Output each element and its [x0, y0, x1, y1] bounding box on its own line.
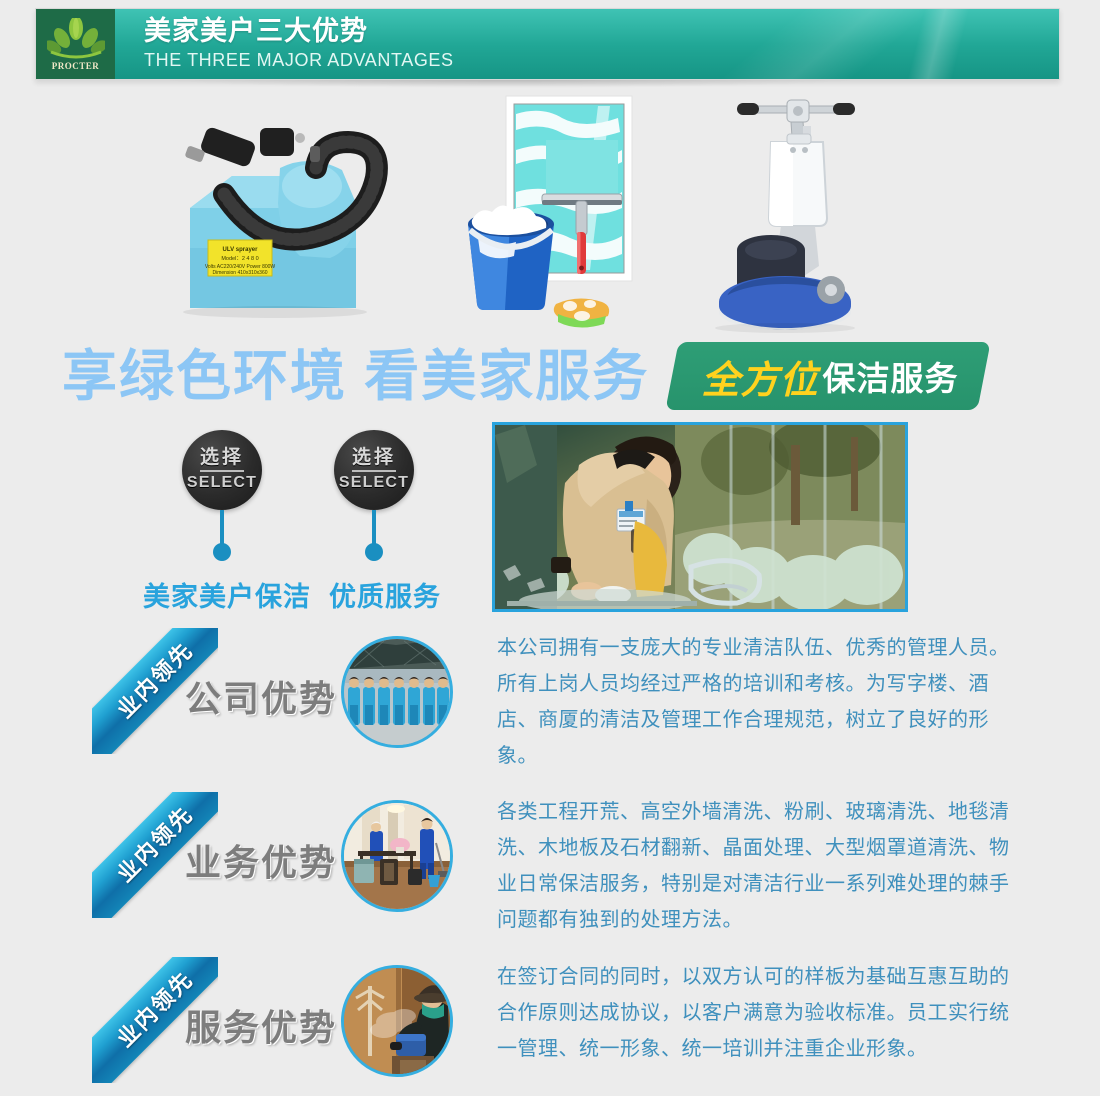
header-drop-shadow [160, 80, 860, 88]
advantage-text-2: 各类工程开荒、高空外墙清洗、粉刷、玻璃清洗、地毯清洗、木地板及石材翻新、晶面处理… [497, 794, 1013, 938]
product-image-ulv-sprayer: ULV sprayer Model：2 4 8 0 Volts AC220/24… [160, 98, 490, 338]
page-header: PROCTER 美家美户三大优势 THE THREE MAJOR ADVANTA… [35, 8, 1060, 80]
select-pin-2[interactable]: 选择 SELECT [334, 430, 414, 562]
workers-cleaning-dining-room-image [344, 803, 450, 909]
pin-dot-2 [365, 543, 383, 561]
floor-polisher-illustration [715, 90, 900, 335]
header-title-en: THE THREE MAJOR ADVANTAGES [144, 48, 454, 72]
advantage-title-2: 业务优势 [185, 834, 345, 886]
advantage-photo-2 [341, 800, 453, 912]
select-badge-cn-1: 选择 [200, 448, 244, 472]
worker-photo [492, 422, 908, 612]
svg-text:Model：2 4 8 0: Model：2 4 8 0 [221, 256, 258, 262]
service-banner-rest: 保洁服务 [823, 352, 959, 400]
main-slogan: 享绿色环境 看美家服务 [62, 345, 649, 407]
advantage-title-3: 服务优势 [185, 999, 345, 1051]
product-image-window-cleaning [450, 88, 690, 333]
company-logo: PROCTER [36, 9, 115, 79]
cleaner-wiping-glass-table-image [495, 425, 905, 609]
pin-labels: 美家美户保洁优质服务 [143, 575, 441, 614]
pin-label-2: 优质服务 [329, 582, 441, 612]
window-squeegee-illustration [450, 88, 690, 333]
select-badge-en-2: SELECT [339, 474, 409, 492]
staff-lineup-blue-uniforms-image [344, 639, 450, 745]
select-badge-circle-1: 选择 SELECT [182, 430, 262, 510]
advantage-text-1: 本公司拥有一支庞大的专业清洁队伍、优秀的管理人员。所有上岗人员均经过严格的培训和… [497, 630, 1013, 774]
product-image-strip: ULV sprayer Model：2 4 8 0 Volts AC220/24… [0, 88, 1100, 338]
worker-spraying-disinfectant-image [344, 968, 450, 1074]
pin-dot-1 [213, 543, 231, 561]
advantage-title-1: 公司优势 [185, 670, 345, 722]
header-gloss-upper [599, 8, 1019, 80]
select-badge-cn-2: 选择 [352, 448, 396, 472]
select-pin-1[interactable]: 选择 SELECT [182, 430, 262, 562]
advantage-text-3: 在签订合同的同时，以双方认可的样板为基础互惠互助的合作原则达成协议，以客户满意为… [497, 959, 1013, 1067]
product-image-floor-polisher [715, 90, 900, 335]
header-gloss-diagonal [746, 8, 1060, 80]
svg-text:Dimension 410x310x360: Dimension 410x310x360 [212, 270, 267, 276]
leaf-crown-icon [47, 18, 105, 60]
advertisement-page: PROCTER 美家美户三大优势 THE THREE MAJOR ADVANTA… [0, 0, 1100, 1096]
service-banner-text: 全方位 保洁服务 [680, 350, 980, 402]
select-badge-en-1: SELECT [187, 474, 257, 492]
svg-text:ULV sprayer: ULV sprayer [223, 247, 259, 253]
service-banner-highlight: 全方位 [701, 349, 818, 404]
ulv-sprayer-illustration: ULV sprayer Model：2 4 8 0 Volts AC220/24… [160, 98, 490, 338]
header-title-cn: 美家美户三大优势 [144, 15, 454, 47]
logo-brand-text: PROCTER [52, 61, 100, 71]
header-text-block: 美家美户三大优势 THE THREE MAJOR ADVANTAGES [144, 15, 454, 72]
advantage-photo-1 [341, 636, 453, 748]
advantage-photo-3 [341, 965, 453, 1077]
select-badge-circle-2: 选择 SELECT [334, 430, 414, 510]
pin-label-1: 美家美户保洁 [143, 582, 311, 612]
